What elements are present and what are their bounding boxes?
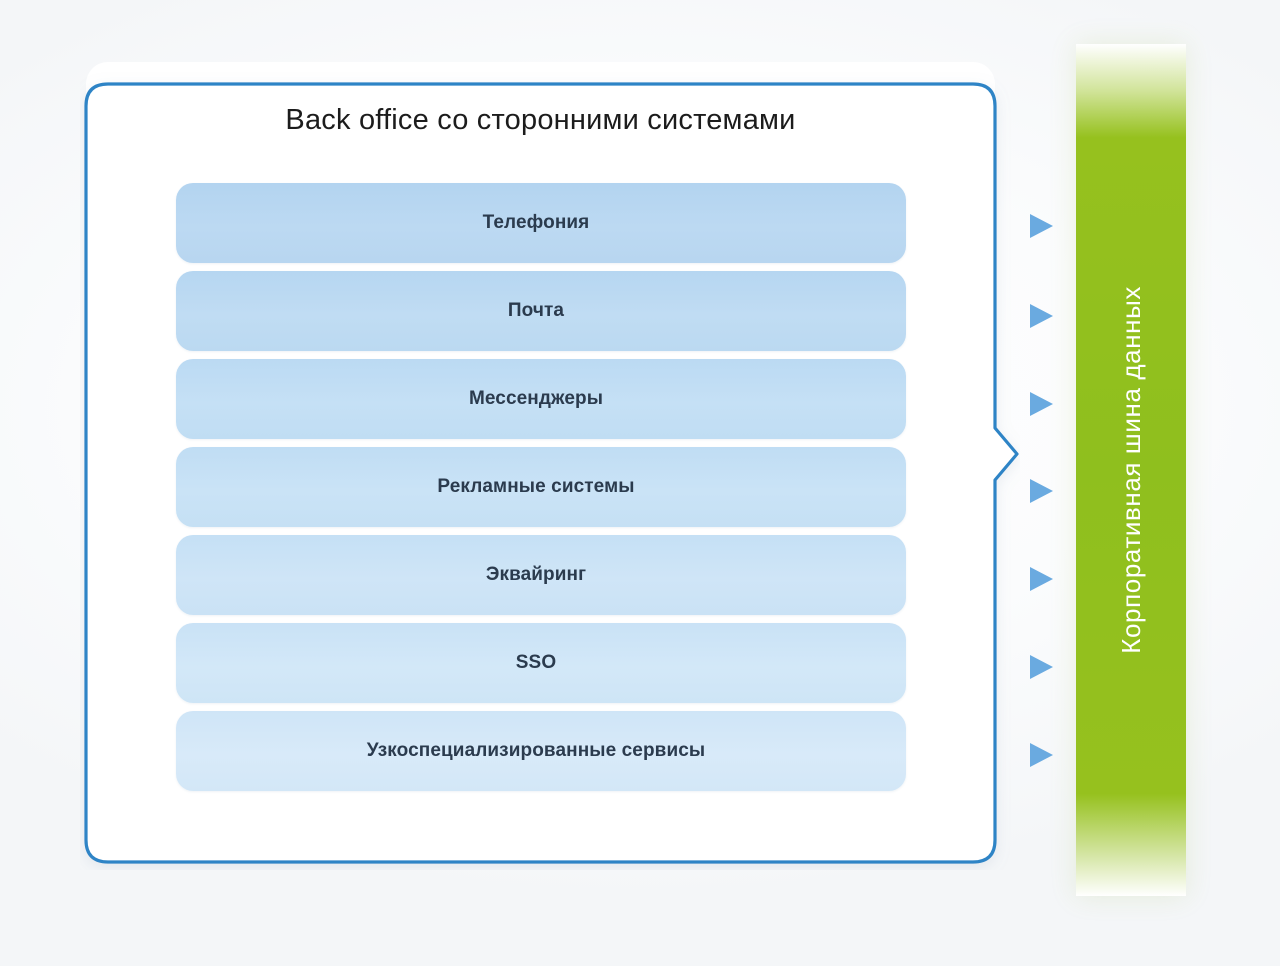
diagram-canvas: Back office со сторонними системами Теле… [0, 0, 1280, 966]
list-item[interactable]: Эквайринг [176, 535, 906, 615]
list-item[interactable]: Мессенджеры [176, 359, 906, 439]
systems-list: Телефония Почта Мессенджеры Рекламные си… [176, 183, 906, 796]
list-item-label: SSO [516, 652, 556, 674]
list-item-label: Узкоспециализированные сервисы [367, 740, 705, 762]
list-item[interactable]: Почта [176, 271, 906, 351]
list-item-label: Рекламные системы [437, 476, 634, 498]
page-title: Back office со сторонними системами [106, 104, 975, 137]
list-item[interactable]: SSO [176, 623, 906, 703]
list-item[interactable]: Рекламные системы [176, 447, 906, 527]
list-item[interactable]: Телефония [176, 183, 906, 263]
list-item-label: Телефония [483, 212, 590, 234]
list-item-label: Мессенджеры [469, 388, 603, 410]
list-item-label: Эквайринг [486, 564, 586, 586]
corporate-data-bus-label-wrap: Корпоративная шина данных [1076, 44, 1186, 896]
list-item[interactable]: Узкоспециализированные сервисы [176, 711, 906, 791]
list-item-label: Почта [508, 300, 564, 322]
corporate-data-bus-label: Корпоративная шина данных [1116, 286, 1147, 654]
